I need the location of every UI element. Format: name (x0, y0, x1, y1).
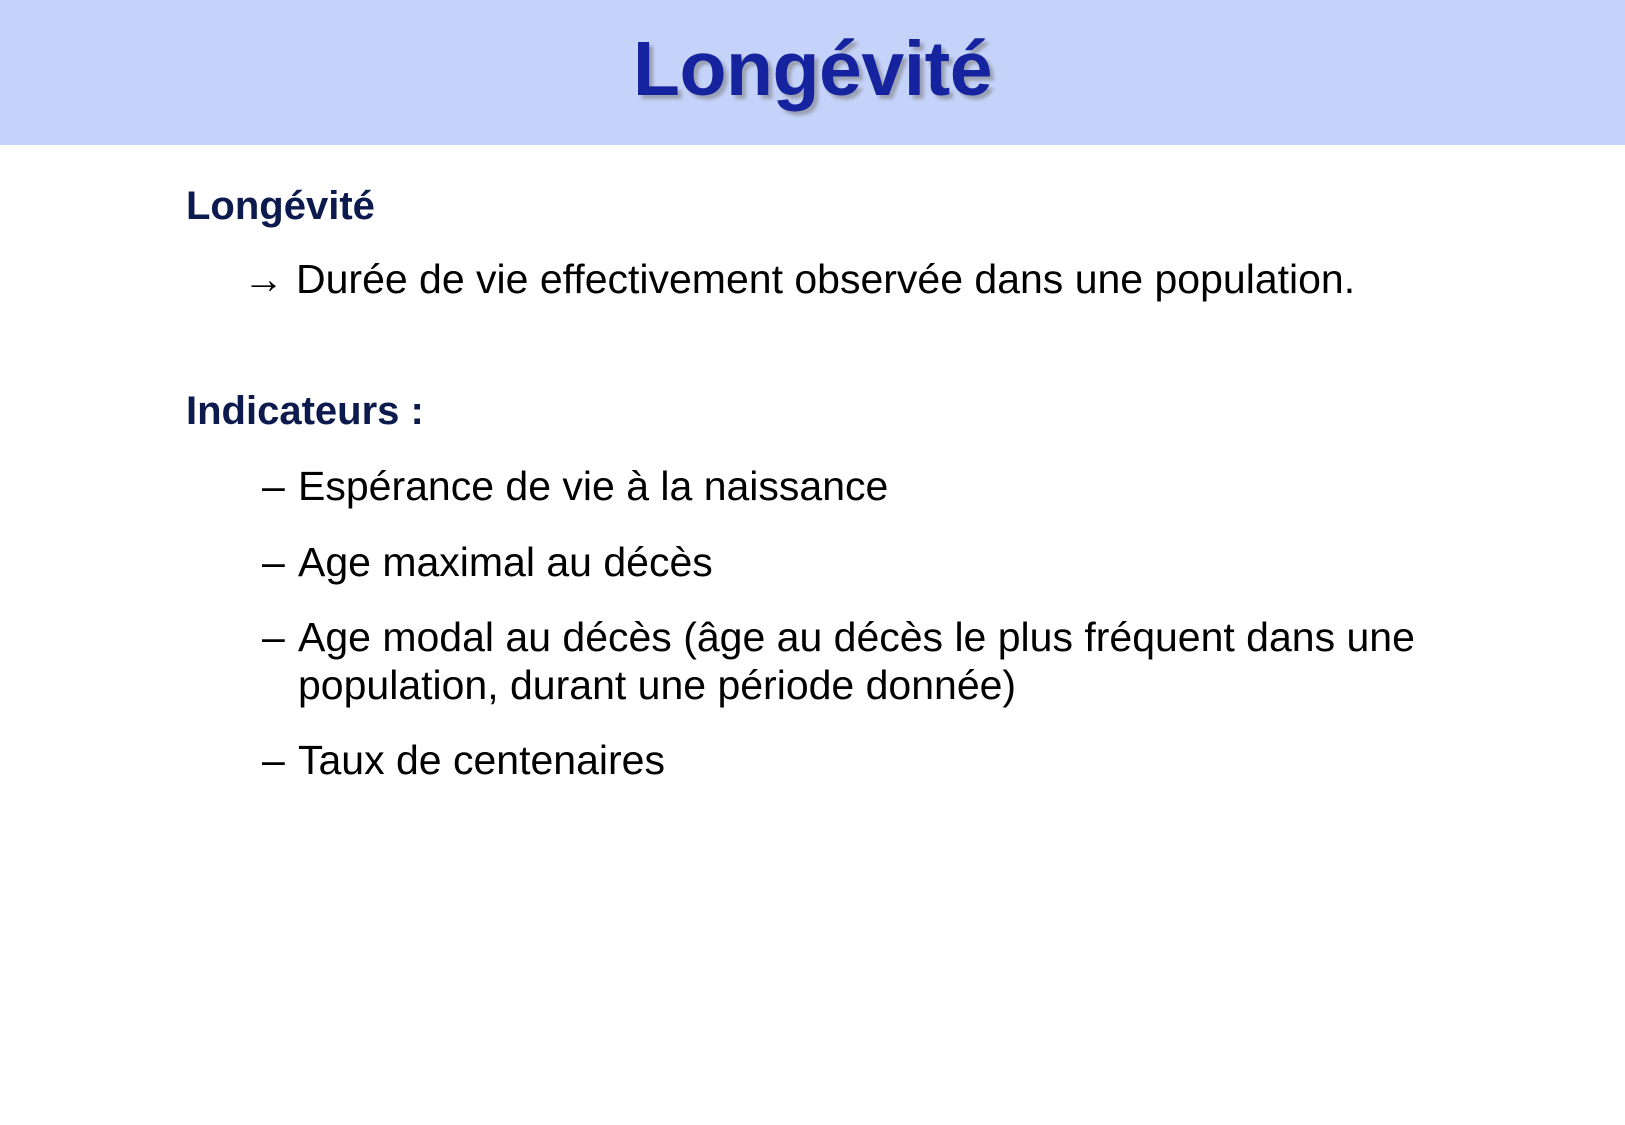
dash-bullet-icon: – (262, 737, 285, 785)
dash-bullet-icon: – (262, 463, 285, 511)
section-heading-indicateurs: Indicateurs : (186, 390, 424, 432)
list-item-label: Taux de centenaires (298, 737, 1442, 785)
list-item: – Espérance de vie à la naissance (262, 463, 1442, 511)
list-item-label: Espérance de vie à la naissance (298, 463, 1442, 511)
section-heading-longevite: Longévité (186, 185, 375, 227)
dash-bullet-icon: – (262, 539, 285, 587)
list-item-label: Age modal au décès (âge au décès le plus… (298, 614, 1458, 709)
definition-text: Durée de vie effectivement observée dans… (296, 256, 1355, 302)
arrow-right-icon: → (243, 257, 284, 302)
list-item: – Age maximal au décès (262, 539, 1442, 587)
definition-line: →Durée de vie effectivement observée dan… (243, 257, 1355, 302)
slide: Longévité Longévité →Durée de vie effect… (0, 0, 1625, 1125)
list-item: – Taux de centenaires (262, 737, 1442, 785)
slide-body: Longévité →Durée de vie effectivement ob… (0, 145, 1625, 1125)
list-item-label: Age maximal au décès (298, 539, 1442, 587)
dash-bullet-icon: – (262, 614, 285, 662)
list-item: – Age modal au décès (âge au décès le pl… (262, 614, 1458, 709)
indicators-list: – Espérance de vie à la naissance – Age … (262, 463, 1442, 785)
slide-title: Longévité (0, 0, 1625, 145)
